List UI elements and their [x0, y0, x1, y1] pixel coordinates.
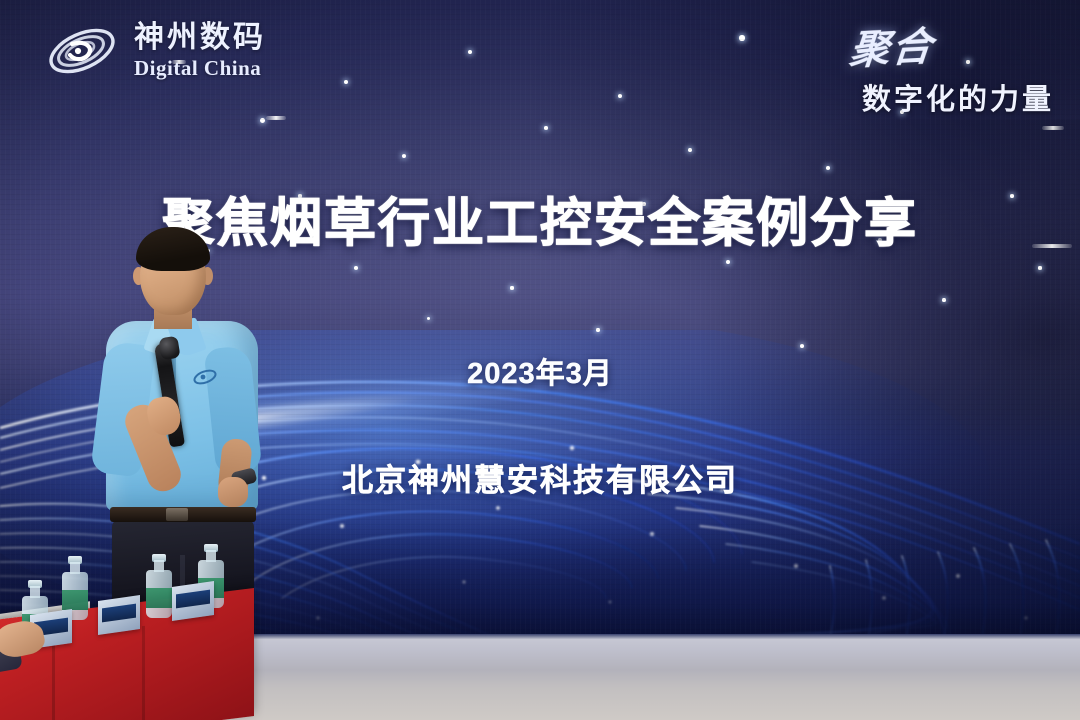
- event-slogan: 聚合 数字化的力量: [850, 16, 1054, 118]
- light-particle: [344, 80, 348, 84]
- foreground-attendee: [0, 612, 60, 682]
- name-card: [172, 581, 214, 621]
- speaker-hand-right: [218, 477, 248, 507]
- light-particle: [354, 266, 358, 270]
- slogan-sub-text: 数字化的力量: [850, 76, 1054, 118]
- tablecloth-fold: [142, 626, 145, 720]
- light-particle: [468, 50, 472, 54]
- brand-name-cn: 神州数码: [134, 23, 266, 53]
- attendee-hand: [0, 617, 47, 660]
- light-particle: [402, 154, 406, 158]
- speaker-belt-buckle: [166, 508, 188, 521]
- light-particle: [688, 148, 692, 152]
- name-card: [98, 595, 140, 635]
- digital-china-swirl-logo-icon: [44, 22, 120, 80]
- slogan-brush-text: 聚合: [847, 14, 937, 76]
- light-particle: [726, 260, 730, 264]
- light-streak-dash: [266, 116, 286, 120]
- light-particle: [510, 286, 513, 289]
- light-particle: [1038, 266, 1041, 269]
- brand-logo: 神州数码 Digital China: [44, 22, 266, 80]
- light-particle: [618, 94, 623, 99]
- bottle-label: [62, 590, 88, 610]
- light-particle: [739, 35, 744, 40]
- light-streak-dash: [1042, 126, 1064, 130]
- shirt-chest-logo-icon: [192, 367, 218, 387]
- name-card-strip: [102, 604, 136, 623]
- light-particle: [260, 118, 265, 123]
- microphone-capsule: [158, 336, 180, 361]
- light-particle: [826, 166, 830, 170]
- bottle-label: [146, 588, 172, 608]
- water-bottle: [146, 556, 172, 618]
- light-particle: [544, 126, 548, 130]
- speaker-hair: [136, 227, 210, 271]
- brand-name-en: Digital China: [134, 58, 266, 79]
- light-particle: [942, 298, 946, 302]
- light-particle: [427, 317, 430, 320]
- stage-photo: 神州数码 Digital China 聚合 数字化的力量 聚焦烟草行业工控安全案…: [0, 0, 1080, 720]
- name-card-strip: [176, 590, 210, 609]
